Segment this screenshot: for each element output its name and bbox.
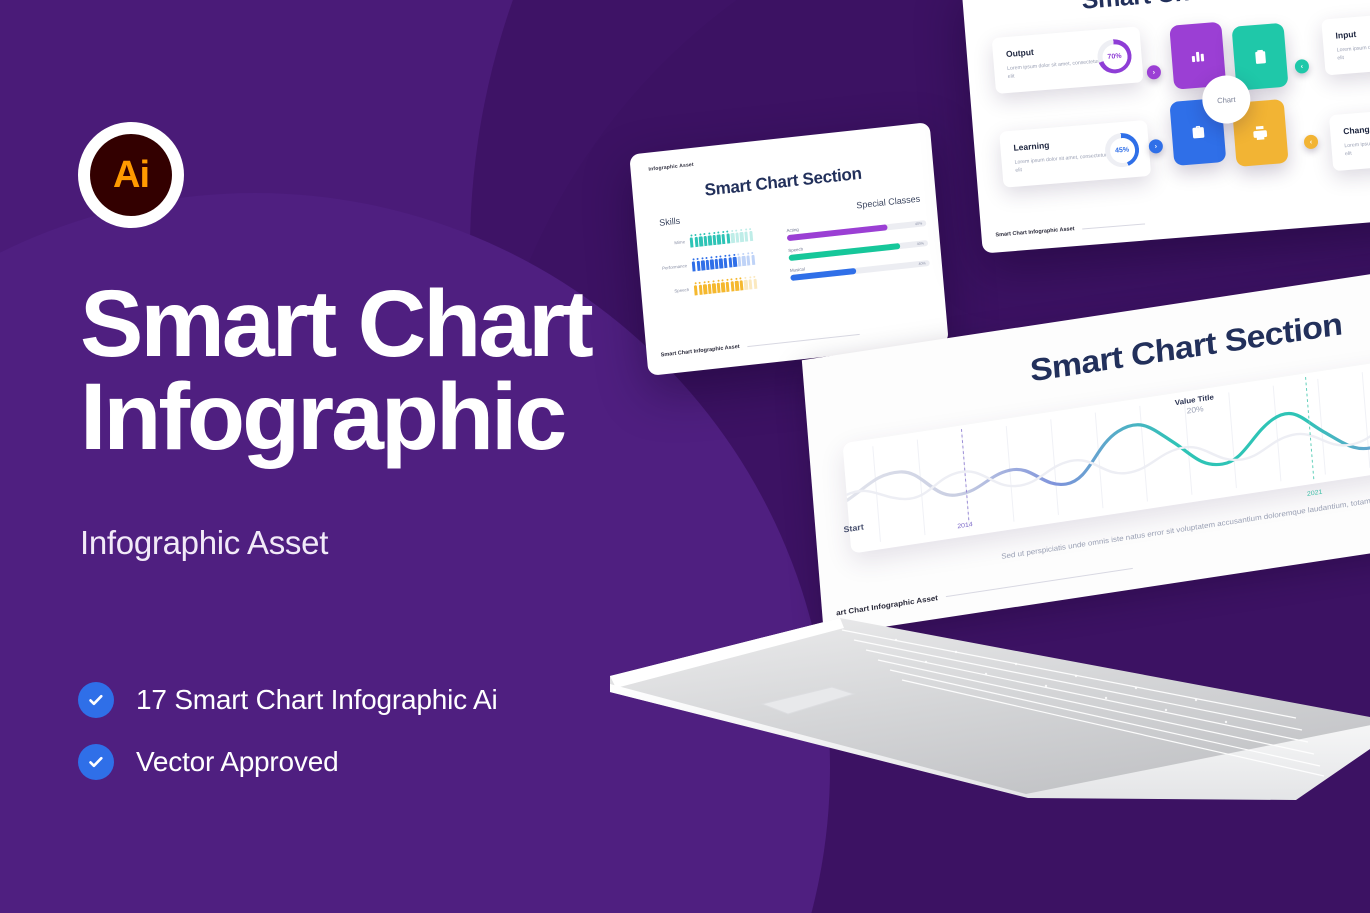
nav-chevron-right-purple-icon[interactable]: › — [1146, 65, 1161, 80]
laptop-mockup: Smart Chart Section — [596, 330, 1370, 800]
skills-heading: Skills — [659, 204, 785, 228]
person-icon — [751, 252, 756, 265]
info-card-title: Changes — [1343, 116, 1370, 136]
section-grid: Output Lorem ipsum dolor sit amet, conse… — [991, 0, 1370, 217]
page-subtitle: Infographic Asset — [80, 524, 328, 562]
card-footer: Smart Chart Infographic Asset — [995, 220, 1145, 238]
progress-percent: 40% — [917, 241, 925, 246]
skill-label: Performance — [653, 263, 687, 272]
footer-rule — [1082, 223, 1145, 229]
footer-note: Smart Chart Infographic Asset — [995, 226, 1074, 238]
progress-percent: 40% — [918, 261, 926, 266]
headline-line-1: Smart Chart — [80, 271, 591, 377]
info-card-title: Input — [1335, 21, 1370, 41]
bar-chart-icon — [1188, 46, 1207, 65]
donut-chart-learning: 45% — [1104, 132, 1141, 169]
feature-list: 17 Smart Chart Infographic Ai Vector App… — [78, 682, 498, 806]
nav-chevron-right-blue-icon[interactable]: › — [1148, 139, 1163, 154]
chart-center-label: Chart — [1217, 94, 1236, 104]
donut-value: 70% — [1107, 52, 1122, 60]
nav-chevron-left-teal-icon[interactable]: ‹ — [1294, 59, 1309, 74]
nav-chevron-left-yellow-icon[interactable]: ‹ — [1303, 134, 1318, 149]
list-item: Vector Approved — [78, 744, 498, 780]
donut-value: 45% — [1115, 146, 1130, 154]
chart-marker-2021: 2021 — [1307, 489, 1323, 498]
info-card-learning: Learning Lorem ipsum dolor sit amet, con… — [999, 120, 1151, 188]
feature-label: 17 Smart Chart Infographic Ai — [136, 684, 498, 716]
page-title: Smart Chart Infographic — [80, 278, 680, 464]
left-panel: Ai Smart Chart Infographic Infographic A… — [0, 0, 640, 913]
briefcase-icon — [1189, 123, 1207, 141]
special-classes-column: Special Classes Acting 40% Speech 40% Mu… — [784, 189, 931, 296]
info-card-input: Input Lorem ipsum dolor sit amet, consec… — [1321, 8, 1370, 76]
clipboard-icon — [1251, 48, 1269, 66]
headline-line-2: Infographic — [80, 371, 680, 464]
people-pictogram-group — [691, 252, 755, 272]
ai-logo-inner-circle: Ai — [90, 134, 172, 216]
list-item: 17 Smart Chart Infographic Ai — [78, 682, 498, 718]
adobe-illustrator-badge: Ai — [78, 122, 184, 228]
skill-row: Mime — [651, 224, 787, 252]
card-kicker: Infographic Asset — [648, 162, 694, 173]
info-card-body: Lorem ipsum dolor sit amet, consectetur … — [1344, 132, 1370, 158]
skill-label: Mime — [651, 239, 685, 248]
person-icon — [753, 276, 758, 289]
skill-row: Performance — [653, 248, 789, 276]
info-card-body: Lorem ipsum dolor sit amet, consectetur … — [1336, 37, 1370, 63]
info-card-changes: Changes Lorem ipsum dolor sit amet, cons… — [1329, 103, 1370, 171]
laptop-base — [596, 588, 1370, 803]
people-pictogram-group — [689, 228, 753, 248]
ai-logo-label: Ai — [113, 156, 149, 194]
printer-icon — [1250, 123, 1269, 142]
people-pictogram-group — [694, 276, 758, 296]
info-card-output: Output Lorem ipsum dolor sit amet, conse… — [992, 26, 1144, 94]
progress-percent: 40% — [915, 221, 923, 226]
feature-label: Vector Approved — [136, 746, 338, 778]
check-icon — [78, 744, 114, 780]
donut-chart-output: 70% — [1096, 38, 1133, 75]
smart-chart-section-card: Smart Chart Section Output Lorem ipsum d… — [961, 0, 1370, 254]
person-icon — [749, 228, 754, 241]
special-classes-heading: Special Classes — [785, 194, 921, 219]
check-icon — [78, 682, 114, 718]
